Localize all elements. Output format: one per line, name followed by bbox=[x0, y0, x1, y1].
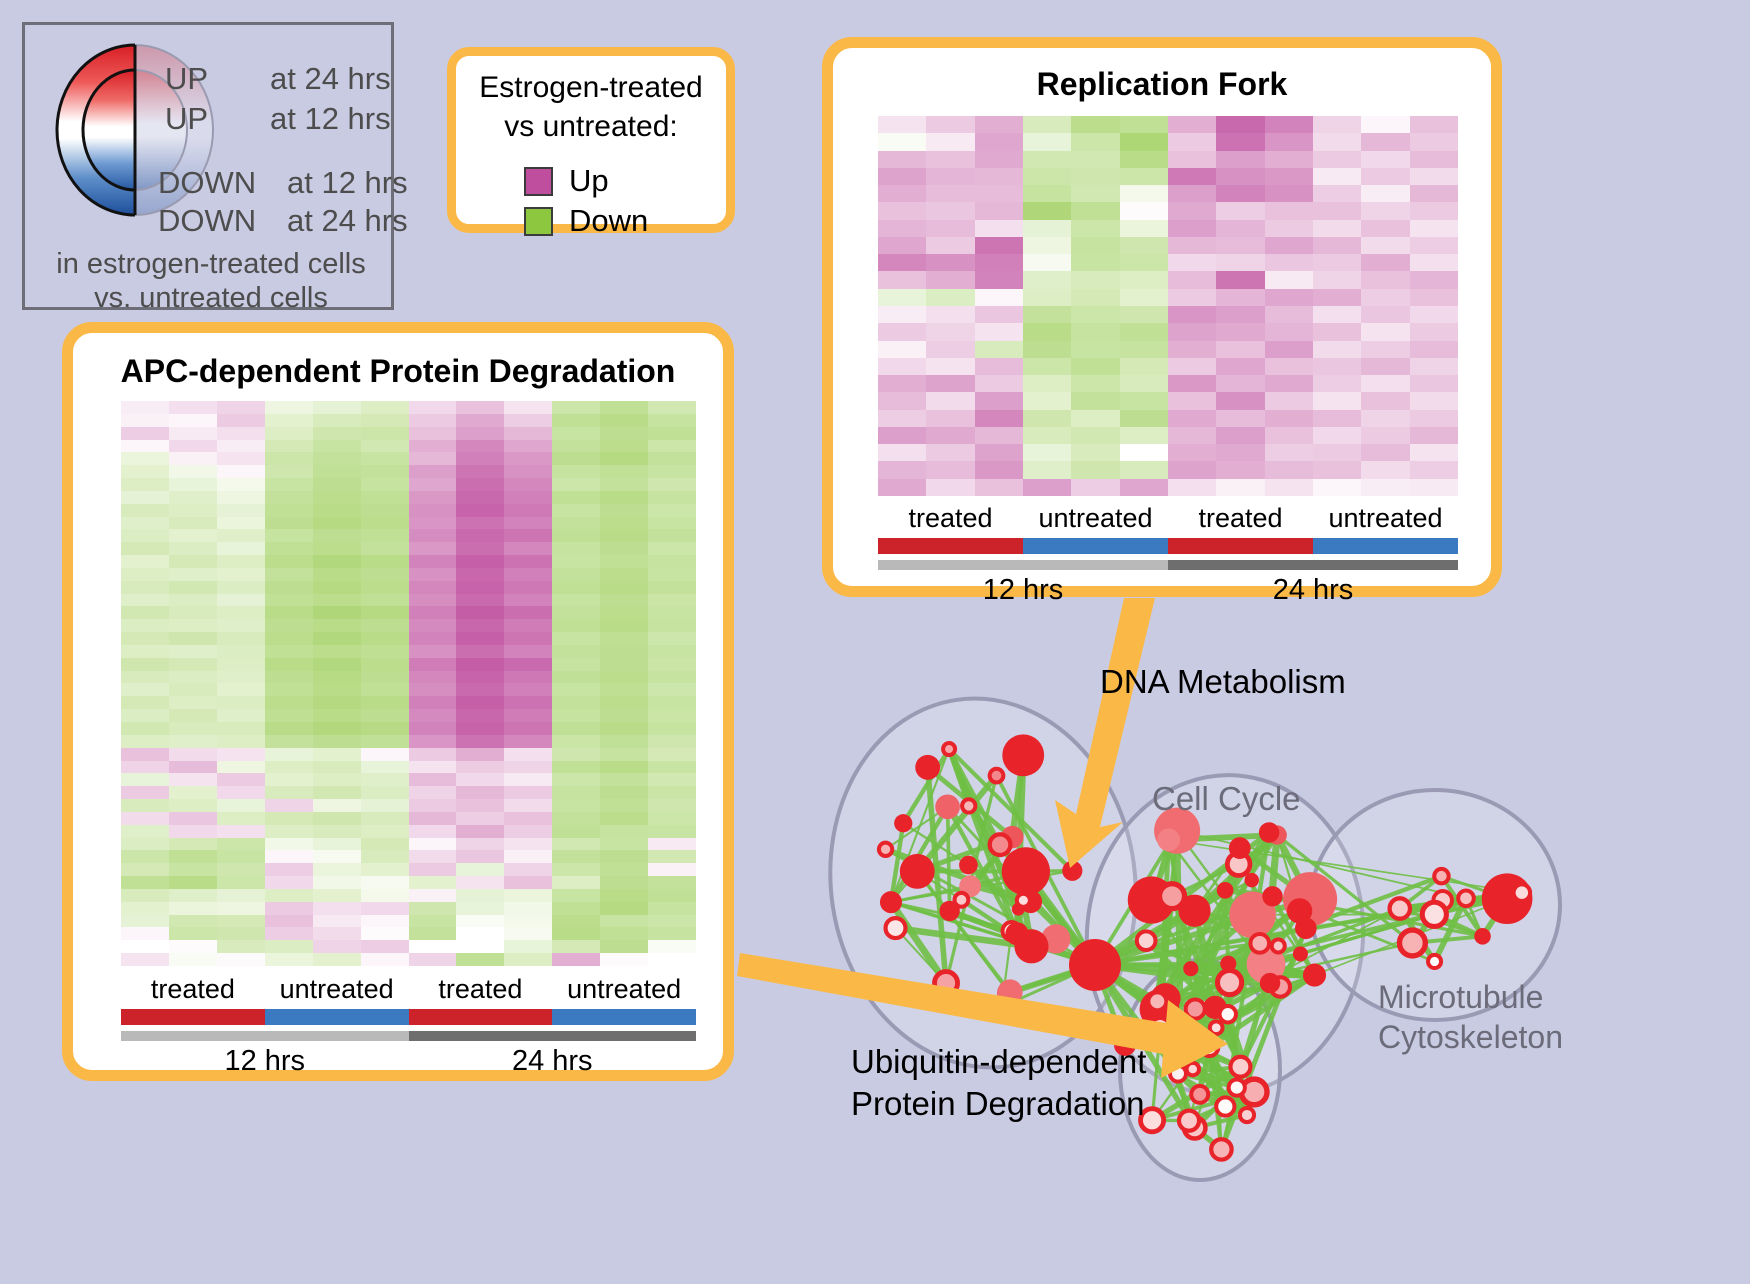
heatmap-cell bbox=[409, 876, 457, 889]
heatmap-cell bbox=[504, 414, 552, 427]
heatmap-cell bbox=[409, 722, 457, 735]
network-node bbox=[1069, 939, 1121, 991]
heatmap-cell bbox=[1265, 323, 1313, 340]
cluster-label-microtubule-cytoskeleton: Microtubule Cytoskeleton bbox=[1378, 977, 1563, 1057]
heatmap-cell bbox=[552, 555, 600, 568]
heatmap-cell bbox=[361, 850, 409, 863]
heatmap-cell bbox=[552, 671, 600, 684]
heatmap-cell bbox=[975, 271, 1023, 288]
heatmap-cell bbox=[169, 440, 217, 453]
cluster-label-ubiquitin-line2: Protein Degradation bbox=[851, 1083, 1146, 1125]
heatmap-cell bbox=[926, 151, 974, 168]
heatmap-cell bbox=[1361, 444, 1409, 461]
heatmap-cell bbox=[456, 812, 504, 825]
heatmap-cell bbox=[648, 594, 696, 607]
heatmap-apc-time-bar bbox=[121, 1031, 696, 1041]
heatmap-cell bbox=[361, 555, 409, 568]
scale-label-down-24: DOWN bbox=[158, 205, 256, 236]
heatmap-cell bbox=[648, 709, 696, 722]
expression-scale-legend: UP at 24 hrs UP at 12 hrs DOWN at 12 hrs… bbox=[22, 22, 394, 310]
heatmap-cell bbox=[456, 735, 504, 748]
heatmap-apc-group-labels: treated untreated treated untreated bbox=[121, 974, 696, 1005]
heatmap-rep-time-bar bbox=[878, 560, 1458, 570]
network-node bbox=[1217, 882, 1234, 899]
network-node bbox=[1150, 1018, 1169, 1037]
heatmap-cell bbox=[1071, 151, 1119, 168]
heatmap-cell bbox=[1265, 133, 1313, 150]
heatmap-cell bbox=[600, 452, 648, 465]
network-node bbox=[1229, 1080, 1245, 1096]
heatmap-cell bbox=[169, 671, 217, 684]
heatmap-cell bbox=[878, 185, 926, 202]
heatmap-cell bbox=[552, 940, 600, 953]
heatmap-cell bbox=[552, 889, 600, 902]
heatmap-cell bbox=[169, 953, 217, 966]
heatmap-cell bbox=[1168, 254, 1216, 271]
heatmap-cell bbox=[169, 889, 217, 902]
heatmap-cell bbox=[648, 761, 696, 774]
heatmap-cell bbox=[1313, 271, 1361, 288]
heatmap-cell bbox=[1120, 479, 1168, 496]
heatmap-cell bbox=[648, 568, 696, 581]
heatmap-cell bbox=[552, 812, 600, 825]
heatmap-cell bbox=[1313, 168, 1361, 185]
heatmap-cell bbox=[361, 927, 409, 940]
heatmap-cell bbox=[121, 761, 169, 774]
heatmap-cell bbox=[1120, 358, 1168, 375]
heatmap-cell bbox=[926, 461, 974, 478]
heatmap-cell bbox=[648, 478, 696, 491]
heatmap-cell bbox=[648, 529, 696, 542]
heatmap-cell bbox=[169, 658, 217, 671]
heatmap-cell bbox=[217, 632, 265, 645]
heatmap-cell bbox=[456, 825, 504, 838]
network-node bbox=[935, 794, 960, 819]
heatmap-cell bbox=[1216, 444, 1264, 461]
heatmap-cell bbox=[600, 542, 648, 555]
heatmap-cell bbox=[1071, 375, 1119, 392]
heatmap-cell bbox=[600, 838, 648, 851]
heatmap-cell bbox=[1120, 410, 1168, 427]
heatmap-cell bbox=[552, 722, 600, 735]
heatmap-cell bbox=[1265, 237, 1313, 254]
heatmap-cell bbox=[265, 440, 313, 453]
heatmap-cell bbox=[975, 289, 1023, 306]
heatmap-cell bbox=[504, 632, 552, 645]
heatmap-cell bbox=[409, 414, 457, 427]
heatmap-cell bbox=[313, 812, 361, 825]
heatmap-cell bbox=[265, 889, 313, 902]
heatmap-cell bbox=[504, 645, 552, 658]
heatmap-cell bbox=[1071, 341, 1119, 358]
network-node bbox=[955, 893, 969, 907]
heatmap-cell bbox=[648, 696, 696, 709]
heatmap-cell bbox=[504, 850, 552, 863]
heatmap-cell bbox=[121, 838, 169, 851]
heatmap-cell bbox=[169, 632, 217, 645]
heatmap-cell bbox=[1071, 116, 1119, 133]
network-node bbox=[1287, 898, 1312, 923]
heatmap-cell bbox=[217, 915, 265, 928]
heatmap-cell bbox=[121, 940, 169, 953]
heatmap-cell bbox=[121, 683, 169, 696]
heatmap-cell bbox=[265, 465, 313, 478]
heatmap-cell bbox=[217, 414, 265, 427]
heatmap-cell bbox=[1120, 202, 1168, 219]
heatmap-cell bbox=[926, 168, 974, 185]
heatmap-cell bbox=[1216, 410, 1264, 427]
key-item-up: Up bbox=[524, 163, 609, 199]
heatmap-cell bbox=[552, 645, 600, 658]
heatmap-cell bbox=[1120, 341, 1168, 358]
heatmap-cell bbox=[265, 863, 313, 876]
panel-apc-degradation: APC-dependent Protein Degradation treate… bbox=[62, 322, 734, 1081]
heatmap-cell bbox=[1410, 479, 1458, 496]
heatmap-cell bbox=[648, 452, 696, 465]
heatmap-cell bbox=[1313, 375, 1361, 392]
heatmap-cell bbox=[1120, 444, 1168, 461]
heatmap-cell bbox=[265, 581, 313, 594]
heatmap-cell bbox=[926, 444, 974, 461]
heatmap-cell bbox=[265, 632, 313, 645]
heatmap-cell bbox=[313, 876, 361, 889]
cluster-label-ubiquitin-degradation: Ubiquitin-dependent Protein Degradation bbox=[851, 1041, 1146, 1125]
heatmap-cell bbox=[1023, 410, 1071, 427]
heatmap-cell bbox=[169, 735, 217, 748]
heatmap-cell bbox=[504, 427, 552, 440]
heatmap-cell bbox=[265, 517, 313, 530]
heatmap-cell bbox=[217, 748, 265, 761]
heatmap-cell bbox=[121, 452, 169, 465]
heatmap-cell bbox=[409, 632, 457, 645]
heatmap-cell bbox=[600, 889, 648, 902]
heatmap-cell bbox=[217, 902, 265, 915]
heatmap-cell bbox=[265, 850, 313, 863]
heatmap-cell bbox=[313, 735, 361, 748]
rep-time-label-12: 12 hrs bbox=[878, 574, 1168, 607]
heatmap-cell bbox=[409, 812, 457, 825]
heatmap-cell bbox=[975, 306, 1023, 323]
heatmap-cell bbox=[169, 709, 217, 722]
heatmap-cell bbox=[552, 876, 600, 889]
heatmap-cell bbox=[169, 465, 217, 478]
heatmap-cell bbox=[1023, 133, 1071, 150]
key-item-down: Down bbox=[524, 203, 648, 239]
heatmap-cell bbox=[121, 799, 169, 812]
scale-time-down-24: at 24 hrs bbox=[287, 205, 408, 236]
heatmap-cell bbox=[648, 786, 696, 799]
network-node bbox=[935, 972, 958, 995]
heatmap-cell bbox=[1168, 133, 1216, 150]
network-node bbox=[1422, 902, 1446, 926]
heatmap-cell bbox=[552, 542, 600, 555]
heatmap-cell bbox=[409, 427, 457, 440]
heatmap-cell bbox=[926, 237, 974, 254]
network-node bbox=[880, 891, 902, 913]
heatmap-cell bbox=[409, 594, 457, 607]
heatmap-cell bbox=[552, 786, 600, 799]
heatmap-cell bbox=[361, 953, 409, 966]
network-node bbox=[1179, 1111, 1199, 1131]
heatmap-cell bbox=[1023, 254, 1071, 271]
network-node bbox=[1183, 961, 1198, 976]
heatmap-cell bbox=[600, 517, 648, 530]
rep-timebar-12 bbox=[878, 560, 1168, 570]
heatmap-cell bbox=[217, 606, 265, 619]
network-node bbox=[997, 979, 1022, 1004]
heatmap-cell bbox=[552, 748, 600, 761]
heatmap-cell bbox=[169, 838, 217, 851]
heatmap-cell bbox=[1023, 427, 1071, 444]
heatmap-cell bbox=[648, 940, 696, 953]
heatmap-cell bbox=[456, 555, 504, 568]
heatmap-cell bbox=[1361, 271, 1409, 288]
heatmap-cell bbox=[1071, 202, 1119, 219]
heatmap-cell bbox=[1216, 479, 1264, 496]
heatmap-cell bbox=[552, 619, 600, 632]
heatmap-cell bbox=[504, 440, 552, 453]
apc-time-label-12: 12 hrs bbox=[121, 1045, 409, 1078]
heatmap-cell bbox=[1313, 427, 1361, 444]
heatmap-cell bbox=[456, 606, 504, 619]
heatmap-cell bbox=[1120, 185, 1168, 202]
heatmap-cell bbox=[504, 606, 552, 619]
heatmap-cell bbox=[600, 786, 648, 799]
heatmap-cell bbox=[313, 940, 361, 953]
heatmap-cell bbox=[456, 401, 504, 414]
heatmap-cell bbox=[1120, 392, 1168, 409]
heatmap-cell bbox=[504, 568, 552, 581]
heatmap-cell bbox=[1410, 341, 1458, 358]
network-node bbox=[1005, 922, 1028, 945]
heatmap-cell bbox=[409, 799, 457, 812]
heatmap-cell bbox=[1361, 375, 1409, 392]
heatmap-cell bbox=[217, 722, 265, 735]
rep-group-label-1: untreated bbox=[1023, 503, 1168, 534]
heatmap-cell bbox=[265, 902, 313, 915]
heatmap-cell bbox=[265, 555, 313, 568]
heatmap-cell bbox=[265, 401, 313, 414]
heatmap-cell bbox=[600, 504, 648, 517]
heatmap-cell bbox=[1168, 392, 1216, 409]
heatmap-cell bbox=[648, 773, 696, 786]
network-node bbox=[1187, 1063, 1199, 1075]
heatmap-cell bbox=[1216, 427, 1264, 444]
apc-time-label-24: 24 hrs bbox=[409, 1045, 697, 1078]
network-node bbox=[886, 918, 906, 938]
heatmap-cell bbox=[926, 410, 974, 427]
heatmap-cell bbox=[121, 876, 169, 889]
network-node bbox=[1191, 1086, 1208, 1103]
rep-group-label-3: untreated bbox=[1313, 503, 1458, 534]
heatmap-cell bbox=[361, 619, 409, 632]
network-node bbox=[1002, 847, 1050, 895]
heatmap-cell bbox=[504, 555, 552, 568]
heatmap-cell bbox=[1071, 220, 1119, 237]
heatmap-cell bbox=[409, 825, 457, 838]
network-node bbox=[1211, 1139, 1231, 1159]
heatmap-cell bbox=[313, 645, 361, 658]
heatmap-cell bbox=[361, 504, 409, 517]
network-node bbox=[1262, 886, 1282, 906]
heatmap-cell bbox=[409, 915, 457, 928]
heatmap-cell bbox=[600, 812, 648, 825]
heatmap-cell bbox=[1071, 392, 1119, 409]
heatmap-cell bbox=[600, 427, 648, 440]
heatmap-cell bbox=[217, 555, 265, 568]
heatmap-cell bbox=[361, 876, 409, 889]
heatmap-cell bbox=[217, 799, 265, 812]
heatmap-cell bbox=[169, 863, 217, 876]
heatmap-cell bbox=[1361, 220, 1409, 237]
heatmap-cell bbox=[361, 606, 409, 619]
heatmap-cell bbox=[1361, 392, 1409, 409]
heatmap-cell bbox=[456, 491, 504, 504]
heatmap-cell bbox=[361, 594, 409, 607]
panel-replication-fork: Replication Fork treated untreated treat… bbox=[822, 37, 1502, 597]
heatmap-cell bbox=[1120, 306, 1168, 323]
heatmap-cell bbox=[1023, 375, 1071, 392]
heatmap-cell bbox=[456, 440, 504, 453]
network-node bbox=[990, 769, 1004, 783]
heatmap-cell bbox=[456, 863, 504, 876]
heatmap-cell bbox=[313, 504, 361, 517]
network-node bbox=[1137, 931, 1156, 950]
heatmap-cell bbox=[121, 902, 169, 915]
heatmap-cell bbox=[600, 671, 648, 684]
scale-label-down-12: DOWN bbox=[158, 167, 256, 198]
heatmap-cell bbox=[600, 658, 648, 671]
heatmap-cell bbox=[313, 915, 361, 928]
heatmap-cell bbox=[504, 902, 552, 915]
panel-replication-fork-title: Replication Fork bbox=[833, 66, 1491, 103]
network-node bbox=[1220, 956, 1236, 972]
heatmap-cell bbox=[552, 504, 600, 517]
heatmap-cell bbox=[1023, 185, 1071, 202]
heatmap-cell bbox=[121, 927, 169, 940]
heatmap-cell bbox=[121, 504, 169, 517]
heatmap-cell bbox=[1071, 185, 1119, 202]
heatmap-cell bbox=[1410, 220, 1458, 237]
heatmap-cell bbox=[265, 427, 313, 440]
heatmap-cell bbox=[1361, 323, 1409, 340]
heatmap-cell bbox=[600, 953, 648, 966]
heatmap-cell bbox=[504, 709, 552, 722]
heatmap-cell bbox=[1313, 289, 1361, 306]
heatmap-cell bbox=[409, 452, 457, 465]
heatmap-cell bbox=[313, 722, 361, 735]
key-item-down-label: Down bbox=[569, 203, 648, 239]
heatmap-cell bbox=[217, 504, 265, 517]
heatmap-cell bbox=[975, 410, 1023, 427]
network-node bbox=[1434, 869, 1448, 883]
network-node bbox=[943, 743, 955, 755]
heatmap-cell bbox=[1313, 410, 1361, 427]
heatmap-cell bbox=[169, 517, 217, 530]
heatmap-cell bbox=[504, 863, 552, 876]
heatmap-cell bbox=[409, 658, 457, 671]
heatmap-cell bbox=[1313, 444, 1361, 461]
heatmap-cell bbox=[975, 323, 1023, 340]
heatmap-cell bbox=[313, 606, 361, 619]
heatmap-cell bbox=[552, 838, 600, 851]
heatmap-cell bbox=[504, 748, 552, 761]
heatmap-cell bbox=[648, 504, 696, 517]
heatmap-cell bbox=[217, 568, 265, 581]
heatmap-cell bbox=[1265, 116, 1313, 133]
heatmap-cell bbox=[217, 863, 265, 876]
heatmap-cell bbox=[169, 401, 217, 414]
heatmap-cell bbox=[878, 289, 926, 306]
heatmap-cell bbox=[648, 632, 696, 645]
heatmap-cell bbox=[169, 748, 217, 761]
heatmap-cell bbox=[169, 581, 217, 594]
heatmap-cell bbox=[1265, 289, 1313, 306]
heatmap-cell bbox=[456, 594, 504, 607]
heatmap-cell bbox=[1265, 375, 1313, 392]
heatmap-cell bbox=[878, 133, 926, 150]
heatmap-cell bbox=[409, 773, 457, 786]
network-node bbox=[1245, 873, 1259, 887]
heatmap-cell bbox=[600, 927, 648, 940]
heatmap-cell bbox=[121, 427, 169, 440]
heatmap-cell bbox=[1410, 271, 1458, 288]
heatmap-cell bbox=[600, 606, 648, 619]
heatmap-cell bbox=[456, 722, 504, 735]
key-panel-title-line1: Estrogen-treated bbox=[456, 68, 726, 107]
heatmap-cell bbox=[504, 735, 552, 748]
heatmap-cell bbox=[1410, 306, 1458, 323]
rep-bar-treated-24 bbox=[1168, 538, 1313, 554]
heatmap-cell bbox=[878, 271, 926, 288]
heatmap-cell bbox=[648, 414, 696, 427]
pathway-network-diagram[interactable] bbox=[795, 615, 1750, 1279]
heatmap-cell bbox=[456, 478, 504, 491]
heatmap-cell bbox=[975, 341, 1023, 358]
heatmap-cell bbox=[169, 542, 217, 555]
heatmap-cell bbox=[552, 850, 600, 863]
heatmap-cell bbox=[1023, 323, 1071, 340]
heatmap-cell bbox=[121, 581, 169, 594]
heatmap-cell bbox=[1023, 444, 1071, 461]
heatmap-cell bbox=[456, 940, 504, 953]
heatmap-cell bbox=[975, 375, 1023, 392]
heatmap-cell bbox=[121, 465, 169, 478]
heatmap-cell bbox=[217, 812, 265, 825]
heatmap-cell bbox=[552, 825, 600, 838]
heatmap-cell bbox=[1361, 151, 1409, 168]
heatmap-cell bbox=[1023, 220, 1071, 237]
heatmap-cell bbox=[456, 504, 504, 517]
heatmap-cell bbox=[1265, 427, 1313, 444]
heatmap-cell bbox=[361, 838, 409, 851]
network-node bbox=[1210, 1021, 1223, 1034]
heatmap-cell bbox=[169, 606, 217, 619]
heatmap-cell bbox=[1361, 133, 1409, 150]
heatmap-cell bbox=[878, 479, 926, 496]
heatmap-cell bbox=[121, 709, 169, 722]
heatmap-cell bbox=[1410, 237, 1458, 254]
heatmap-cell bbox=[648, 555, 696, 568]
network-node bbox=[1390, 898, 1410, 918]
heatmap-cell bbox=[313, 786, 361, 799]
heatmap-cell bbox=[361, 915, 409, 928]
heatmap-cell bbox=[265, 915, 313, 928]
heatmap-cell bbox=[217, 761, 265, 774]
heatmap-cell bbox=[1120, 116, 1168, 133]
heatmap-cell bbox=[409, 401, 457, 414]
heatmap-cell bbox=[1120, 289, 1168, 306]
